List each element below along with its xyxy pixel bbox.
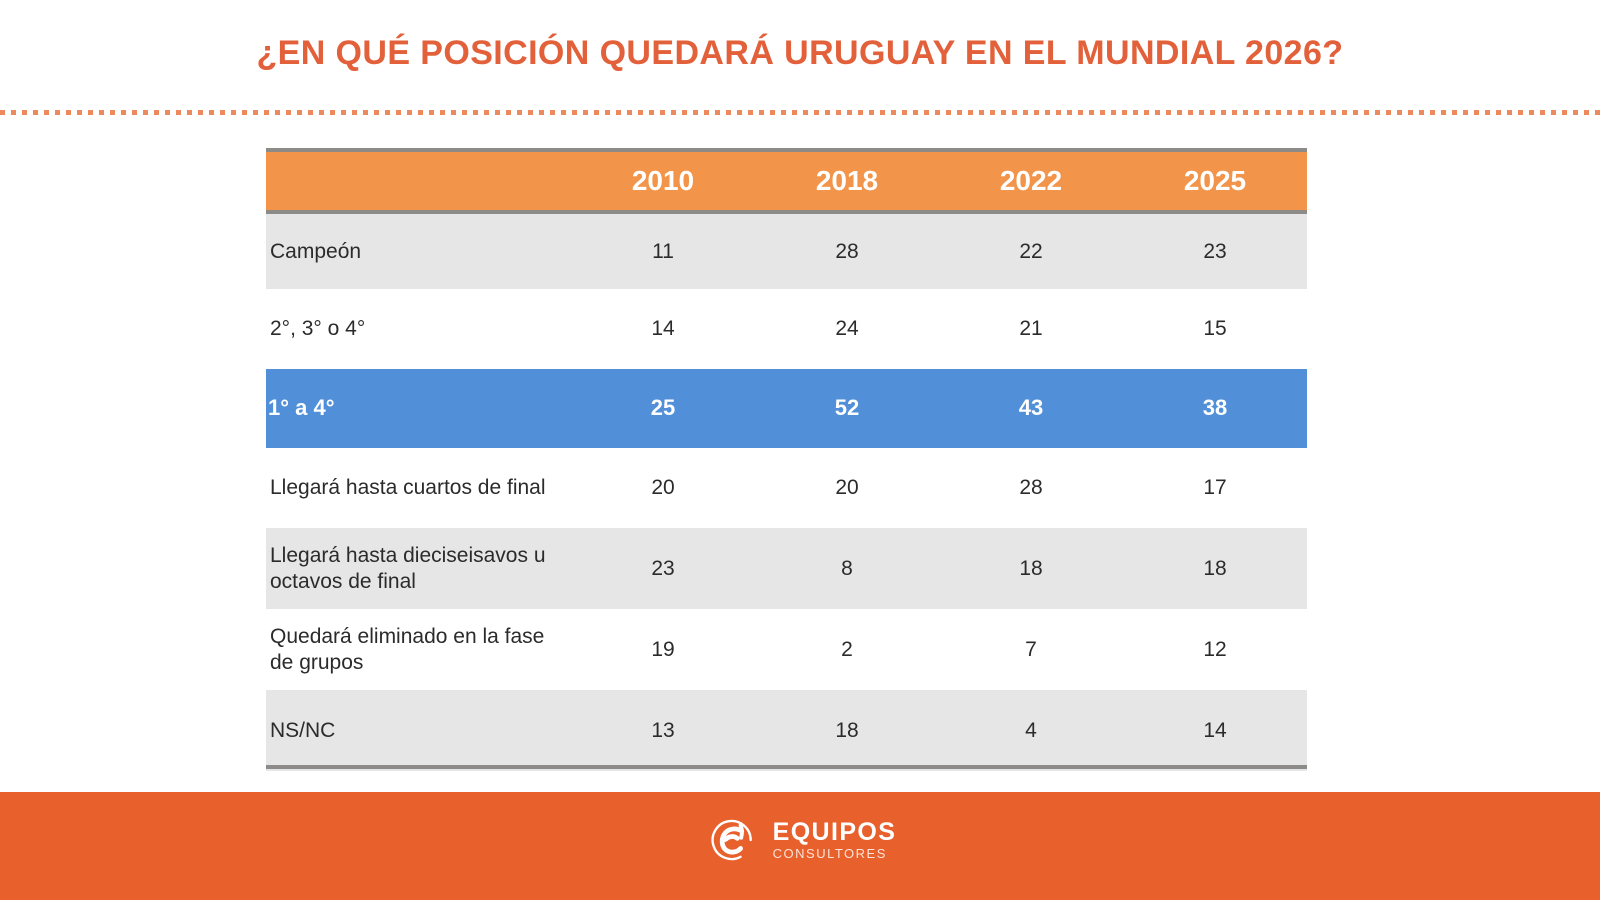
table-row-highlighted: 1° a 4° 25 52 43 38	[266, 369, 1307, 448]
table-header: 2010 2018 2022 2025	[266, 150, 1307, 212]
table-row: Quedará eliminado en la fase de grupos 1…	[266, 609, 1307, 690]
row-label: NS/NC	[266, 690, 571, 771]
page-title-area: ¿EN QUÉ POSICIÓN QUEDARÁ URUGUAY EN EL M…	[0, 34, 1600, 73]
cell-2010: 19	[571, 609, 755, 690]
table-row: Llegará hasta cuartos de final 20 20 28 …	[266, 448, 1307, 528]
row-label: 2°, 3° o 4°	[266, 289, 571, 369]
cell-2022: 28	[939, 448, 1123, 528]
table-row: 2°, 3° o 4° 14 24 21 15	[266, 289, 1307, 369]
table-bottom-rule	[266, 765, 1307, 769]
cell-2018: 2	[755, 609, 939, 690]
table-row: Campeón 11 28 22 23	[266, 212, 1307, 289]
cell-2022: 21	[939, 289, 1123, 369]
cell-2025: 23	[1123, 212, 1307, 289]
slide-canvas: ¿EN QUÉ POSICIÓN QUEDARÁ URUGUAY EN EL M…	[0, 0, 1600, 900]
brand-logo-text: EQUIPOS CONSULTORES	[773, 819, 897, 861]
cell-2010: 13	[571, 690, 755, 771]
cell-2022: 18	[939, 528, 1123, 609]
table-row: NS/NC 13 18 4 14	[266, 690, 1307, 771]
table-row: Llegará hasta dieciseisavos u octavos de…	[266, 528, 1307, 609]
page-title: ¿EN QUÉ POSICIÓN QUEDARÁ URUGUAY EN EL M…	[0, 34, 1600, 73]
column-header-2022: 2022	[939, 150, 1123, 212]
results-table-wrapper: 2010 2018 2022 2025 Campeón 11 28 22 23 …	[266, 148, 1307, 771]
cell-2018: 20	[755, 448, 939, 528]
column-header-2025: 2025	[1123, 150, 1307, 212]
dotted-divider	[0, 110, 1600, 115]
row-label: Quedará eliminado en la fase de grupos	[266, 609, 571, 690]
table-body: Campeón 11 28 22 23 2°, 3° o 4° 14 24 21…	[266, 212, 1307, 771]
cell-2010: 23	[571, 528, 755, 609]
cell-2022: 22	[939, 212, 1123, 289]
cell-2025: 38	[1123, 369, 1307, 448]
column-header-2010: 2010	[571, 150, 755, 212]
cell-2025: 15	[1123, 289, 1307, 369]
row-label: Llegará hasta cuartos de final	[266, 448, 571, 528]
cell-2025: 17	[1123, 448, 1307, 528]
table-header-row: 2010 2018 2022 2025	[266, 150, 1307, 212]
cell-2022: 4	[939, 690, 1123, 771]
cell-2025: 12	[1123, 609, 1307, 690]
cell-2018: 8	[755, 528, 939, 609]
brand-name: EQUIPOS	[773, 819, 897, 845]
cell-2018: 24	[755, 289, 939, 369]
cell-2022: 43	[939, 369, 1123, 448]
brand-logo: EQUIPOS CONSULTORES	[704, 812, 897, 868]
cell-2018: 28	[755, 212, 939, 289]
row-label: 1° a 4°	[266, 369, 571, 448]
cell-2025: 18	[1123, 528, 1307, 609]
row-label: Campeón	[266, 212, 571, 289]
cell-2010: 11	[571, 212, 755, 289]
results-table: 2010 2018 2022 2025 Campeón 11 28 22 23 …	[266, 148, 1307, 771]
brand-tagline: CONSULTORES	[773, 847, 897, 861]
cell-2022: 7	[939, 609, 1123, 690]
column-header-label	[266, 150, 571, 212]
cell-2010: 14	[571, 289, 755, 369]
cell-2010: 20	[571, 448, 755, 528]
cell-2018: 18	[755, 690, 939, 771]
cell-2025: 14	[1123, 690, 1307, 771]
cell-2010: 25	[571, 369, 755, 448]
equipos-e-monogram-icon	[704, 812, 760, 868]
row-label: Llegará hasta dieciseisavos u octavos de…	[266, 528, 571, 609]
cell-2018: 52	[755, 369, 939, 448]
column-header-2018: 2018	[755, 150, 939, 212]
